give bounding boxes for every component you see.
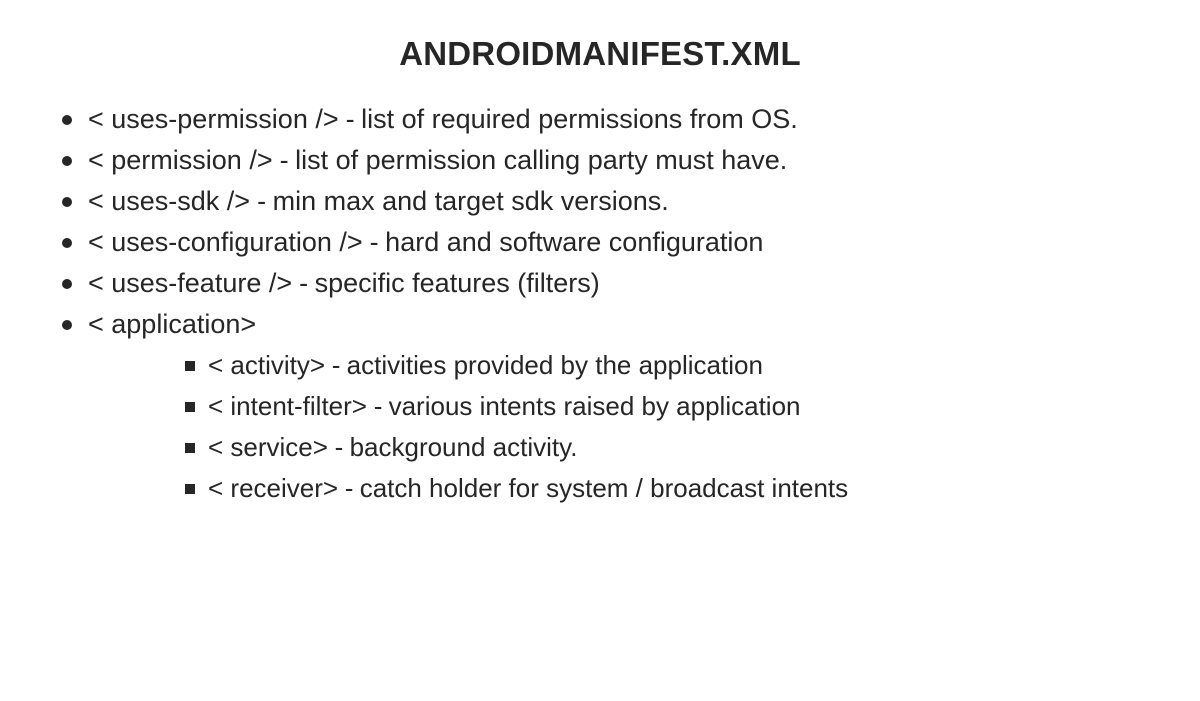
bullet-square-icon — [185, 443, 195, 453]
separator-dash: - — [273, 145, 296, 175]
bullet-circle-icon — [62, 238, 72, 248]
list-item: < service> - background activity. — [88, 427, 1200, 468]
xml-tag-label: < permission /> — [88, 145, 273, 175]
separator-dash: - — [367, 391, 389, 421]
item-description: catch holder for system / broadcast inte… — [360, 473, 848, 503]
xml-tag-label: < intent-filter> — [208, 391, 367, 421]
xml-tag-label: < receiver> — [208, 473, 338, 503]
item-description: hard and software configuration — [385, 227, 763, 257]
separator-dash: - — [338, 473, 360, 503]
xml-tag-label: < activity> — [208, 350, 325, 380]
xml-tag-label: < service> — [208, 432, 328, 462]
separator-dash: - — [250, 186, 273, 216]
list-item: < uses-configuration /> - hard and softw… — [0, 222, 1200, 263]
xml-tag-label: < uses-feature /> — [88, 268, 292, 298]
list-item: < uses-feature /> - specific features (f… — [0, 263, 1200, 304]
separator-dash: - — [292, 268, 315, 298]
bullet-square-icon — [185, 484, 195, 494]
list-item: < uses-sdk /> - min max and target sdk v… — [0, 181, 1200, 222]
bullet-square-icon — [185, 402, 195, 412]
slide-canvas: ANDROIDMANIFEST.XML < uses-permission />… — [0, 0, 1200, 701]
bullet-circle-icon — [62, 197, 72, 207]
outline-list: < uses-permission /> - list of required … — [0, 99, 1200, 345]
list-item: < receiver> - catch holder for system / … — [88, 468, 1200, 509]
xml-tag-label: < uses-permission /> — [88, 104, 339, 134]
separator-dash: - — [325, 350, 347, 380]
bullet-circle-icon — [62, 115, 72, 125]
separator-dash: - — [363, 227, 386, 257]
list-item: < uses-permission /> - list of required … — [0, 99, 1200, 140]
item-description: list of required permissions from OS. — [361, 104, 798, 134]
list-item: < application> < activity> - activities … — [0, 304, 1200, 345]
list-item: < permission /> - list of permission cal… — [0, 140, 1200, 181]
item-description: min max and target sdk versions. — [273, 186, 669, 216]
bullet-circle-icon — [62, 156, 72, 166]
separator-dash: - — [328, 432, 350, 462]
outline-sublist: < activity> - activities provided by the… — [88, 345, 1200, 509]
bullet-square-icon — [185, 361, 195, 371]
item-description: activities provided by the application — [347, 350, 763, 380]
separator-dash: - — [339, 104, 362, 134]
bullet-circle-icon — [62, 320, 72, 330]
bullet-circle-icon — [62, 279, 72, 289]
item-description: background activity. — [350, 432, 578, 462]
page-title: ANDROIDMANIFEST.XML — [0, 34, 1200, 74]
item-description: list of permission calling party must ha… — [295, 145, 787, 175]
xml-tag-label: < uses-configuration /> — [88, 227, 363, 257]
item-description: various intents raised by application — [389, 391, 801, 421]
list-item: < intent-filter> - various intents raise… — [88, 386, 1200, 427]
list-item: < activity> - activities provided by the… — [88, 345, 1200, 386]
xml-tag-label: < uses-sdk /> — [88, 186, 250, 216]
item-description: specific features (filters) — [315, 268, 600, 298]
xml-tag-label: < application> — [88, 309, 256, 339]
